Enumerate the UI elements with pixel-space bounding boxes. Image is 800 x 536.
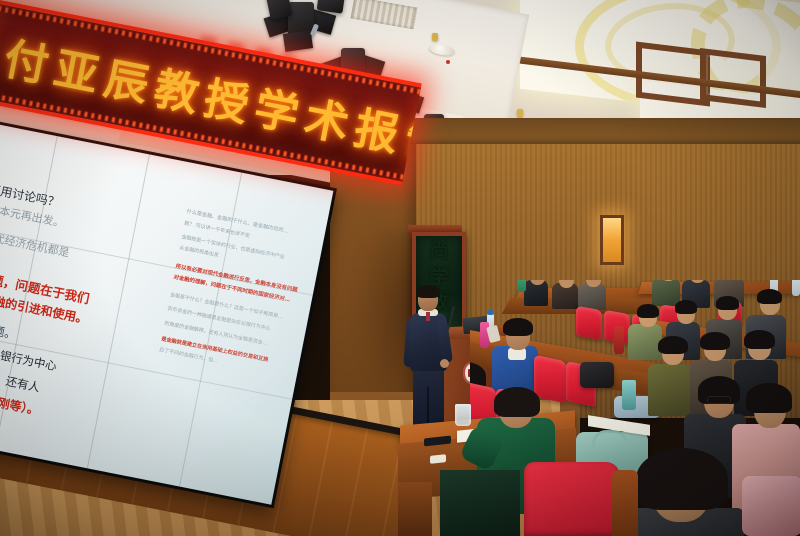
auditorium-seat (576, 306, 602, 341)
auditorium-seat (534, 355, 566, 404)
attendee-body (648, 364, 690, 416)
handbag-strap (592, 430, 628, 447)
barn-door-bottom (283, 30, 313, 52)
detector-indicator-led (446, 60, 450, 64)
attendee-body (628, 324, 662, 360)
presenter (404, 287, 452, 437)
presenter-hair (416, 285, 440, 298)
attendee-shoulder (742, 476, 800, 536)
presenter-tie (426, 312, 430, 321)
attendee-body (652, 280, 680, 306)
black-handbag (580, 362, 614, 388)
presenter-leg-seam (427, 387, 429, 427)
eraser (430, 454, 446, 464)
eyeglasses (707, 396, 731, 404)
sprinkler-head (432, 33, 438, 41)
attendee-hair (757, 289, 782, 304)
plaque-char-1: 尚 (429, 242, 448, 261)
lecture-hall-photo: 尚 学 致 明 么，是金融学的abc，还用讨论吗？ 回归常识" "回日本去" 回… (0, 0, 800, 536)
drinking-glass (455, 404, 471, 426)
attendee-hair (658, 336, 688, 354)
seat-armrest-foreground (612, 470, 638, 536)
attendee-hair (746, 383, 792, 413)
plaque-char-2: 学 (429, 268, 448, 287)
front-desk-side-panel (398, 482, 432, 536)
sprinkler-head-2 (517, 109, 523, 117)
attendee-hair (494, 387, 540, 417)
attendee-lower-body (440, 470, 520, 536)
attendee-hair (675, 300, 697, 314)
slide-right-column: 什么是金融、金融的干什么、是金融的目的… 题？ 可以讲一千年来也讲不完 金融既是… (158, 209, 333, 383)
attendee-hair (700, 332, 730, 350)
teal-bottle (622, 380, 636, 410)
water-bottle (792, 280, 800, 296)
attendee-hair (637, 304, 659, 318)
attendee-hair (636, 448, 728, 510)
wood-lattice-frame-2 (700, 48, 766, 108)
red-thermos (614, 326, 624, 354)
wall-sconce-light (600, 215, 624, 265)
thermos-bottle (518, 280, 526, 292)
attendee-hair (503, 318, 533, 336)
auditorium-seat-foreground (524, 462, 620, 536)
attendee-hair (716, 296, 739, 310)
presenter-hand (440, 359, 449, 368)
attendee-hair (744, 330, 775, 349)
